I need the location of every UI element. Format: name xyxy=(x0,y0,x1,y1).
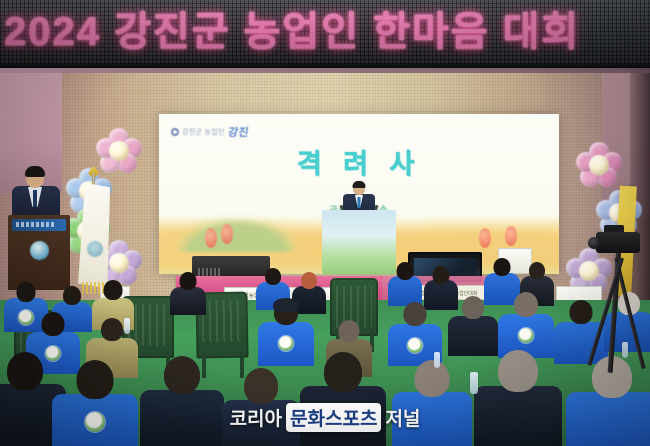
attendee-head xyxy=(324,352,362,392)
water-bottle-4 xyxy=(622,342,628,358)
official-tie xyxy=(33,190,37,207)
attendee-head xyxy=(514,292,538,317)
attendee-cap xyxy=(273,298,299,312)
attendee-head xyxy=(494,258,511,276)
attendee-b4 xyxy=(170,272,206,314)
video-camera xyxy=(596,232,640,253)
attendee-head xyxy=(180,272,197,290)
attendee-head xyxy=(265,268,281,285)
attendee-jacket xyxy=(300,386,386,446)
official-hair xyxy=(25,166,45,177)
attendee-jacket xyxy=(140,390,224,446)
water-bottle-2 xyxy=(434,352,440,368)
attendee-head xyxy=(17,282,36,302)
attendee-jacket xyxy=(392,392,472,446)
attendee-head xyxy=(339,320,360,342)
attendee-f5 xyxy=(300,352,386,446)
attendee-f6 xyxy=(392,360,472,446)
attendee-f4 xyxy=(222,368,300,446)
attendee-head xyxy=(397,262,414,280)
speaker-hair xyxy=(353,181,366,188)
attendee-m4 xyxy=(448,296,498,352)
jacket-logo-icon xyxy=(279,336,294,351)
attendee-f3 xyxy=(140,356,224,446)
speaker-tie xyxy=(358,197,361,208)
led-banner: 2024 강진군 농업인 한마음 대회 xyxy=(0,0,650,68)
attendee-jacket xyxy=(170,287,206,315)
jacket-logo-icon xyxy=(519,328,534,343)
attendee-f7 xyxy=(474,350,562,446)
attendee-head xyxy=(63,286,81,305)
jacket-logo-icon xyxy=(408,338,423,353)
screen-title: 격 려 사 xyxy=(159,142,559,181)
screen-hill-graphic xyxy=(177,218,297,252)
camera-lens-icon xyxy=(588,237,600,249)
attendee-head xyxy=(101,318,123,341)
attendee-jacket xyxy=(474,386,562,446)
flower-purple-right xyxy=(566,248,606,288)
attendee-b7 xyxy=(388,262,422,304)
screen-deco-right2 xyxy=(505,226,517,246)
attendee-head xyxy=(77,360,114,399)
attendee-jacket xyxy=(222,400,300,446)
photo-scene: 2024 강진군 농업인 한마음 대회 강진군 농업인 강진 격 려 사 군수 … xyxy=(0,0,650,446)
attendee-jacket xyxy=(566,392,650,446)
attendee-head xyxy=(498,350,538,392)
screen-logo-text: 강진군 농업인 xyxy=(182,127,225,137)
attendee-m3 xyxy=(388,302,442,360)
attendee-m5 xyxy=(498,292,554,352)
podium-emblem-icon xyxy=(30,241,49,260)
jacket-logo-icon xyxy=(85,412,105,432)
screen-podium xyxy=(322,210,396,274)
screen-logo: 강진군 농업인 강진 xyxy=(171,124,249,140)
attendee-head xyxy=(244,368,278,404)
logo-ring-icon xyxy=(171,128,179,136)
attendee-head xyxy=(462,296,484,319)
podium-nameplate xyxy=(12,219,66,231)
ceiling-beam xyxy=(0,68,650,73)
attendee-head xyxy=(164,356,200,394)
screen-deco-left xyxy=(205,228,217,248)
attendee-cap xyxy=(301,272,317,289)
attendee-head xyxy=(433,266,450,284)
screen-deco-right xyxy=(479,228,491,248)
attendee-head xyxy=(42,312,65,336)
attendee-head xyxy=(7,352,43,390)
attendee-m2 xyxy=(258,300,314,360)
attendee-head xyxy=(104,280,123,300)
screen-logo-mark: 강진 xyxy=(227,124,250,140)
water-bottle-3 xyxy=(470,372,478,394)
attendee-head xyxy=(415,360,450,397)
led-banner-text: 2024 강진군 농업인 한마음 대회 xyxy=(4,8,650,56)
attendee-f2 xyxy=(52,360,138,446)
screen-deco-left2 xyxy=(221,224,233,244)
attendee-head xyxy=(570,300,593,324)
water-bottle-1 xyxy=(124,318,130,334)
attendee-head xyxy=(404,302,427,326)
attendee-head xyxy=(529,262,545,279)
stage-podium xyxy=(8,215,70,290)
